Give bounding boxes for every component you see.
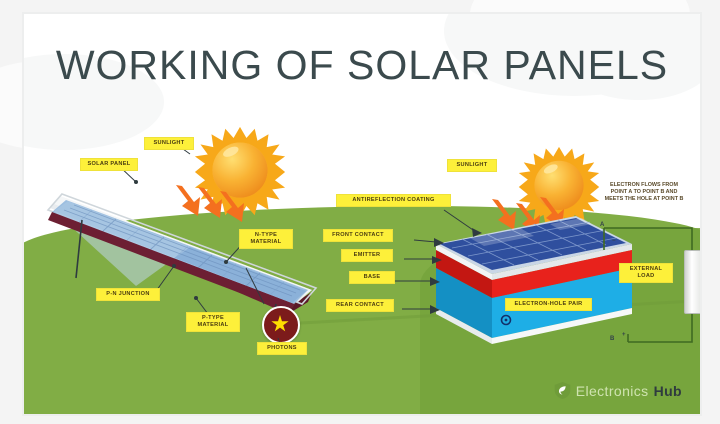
leader-lines (24, 14, 700, 414)
label-solar-panel: SOLAR PANEL (80, 158, 138, 171)
electron-flow-note: ELECTRON FLOWS FROM POINT A TO POINT B A… (580, 182, 702, 204)
label-pn-junction: P-N JUNCTION (96, 288, 160, 301)
label-electron-hole-pair: ELECTRON-HOLE PAIR (505, 298, 592, 311)
shield-icon (554, 381, 571, 400)
logo-word-hub: Hub (654, 383, 682, 399)
label-antireflection-coating: ANTIREFLECTION COATING (336, 194, 451, 207)
label-photons: PHOTONS (257, 342, 307, 355)
infographic-canvas: WORKING OF SOLAR PANELS (0, 0, 720, 424)
label-p-type-material: P-TYPE MATERIAL (186, 312, 240, 332)
label-sunlight-left: SUNLIGHT (144, 137, 194, 150)
label-sunlight-right: SUNLIGHT (447, 159, 497, 172)
label-emitter: EMITTER (341, 249, 393, 262)
brand-logo[interactable]: Electronics Hub (554, 381, 682, 400)
label-rear-contact: REAR CONTACT (326, 299, 394, 312)
label-n-type-material: N-TYPE MATERIAL (239, 229, 293, 249)
poster-frame: WORKING OF SOLAR PANELS (22, 12, 702, 416)
label-external-load: EXTERNAL LOAD (619, 263, 673, 283)
label-front-contact: FRONT CONTACT (323, 229, 393, 242)
label-base: BASE (349, 271, 395, 284)
logo-word-electronics: Electronics (576, 383, 649, 399)
